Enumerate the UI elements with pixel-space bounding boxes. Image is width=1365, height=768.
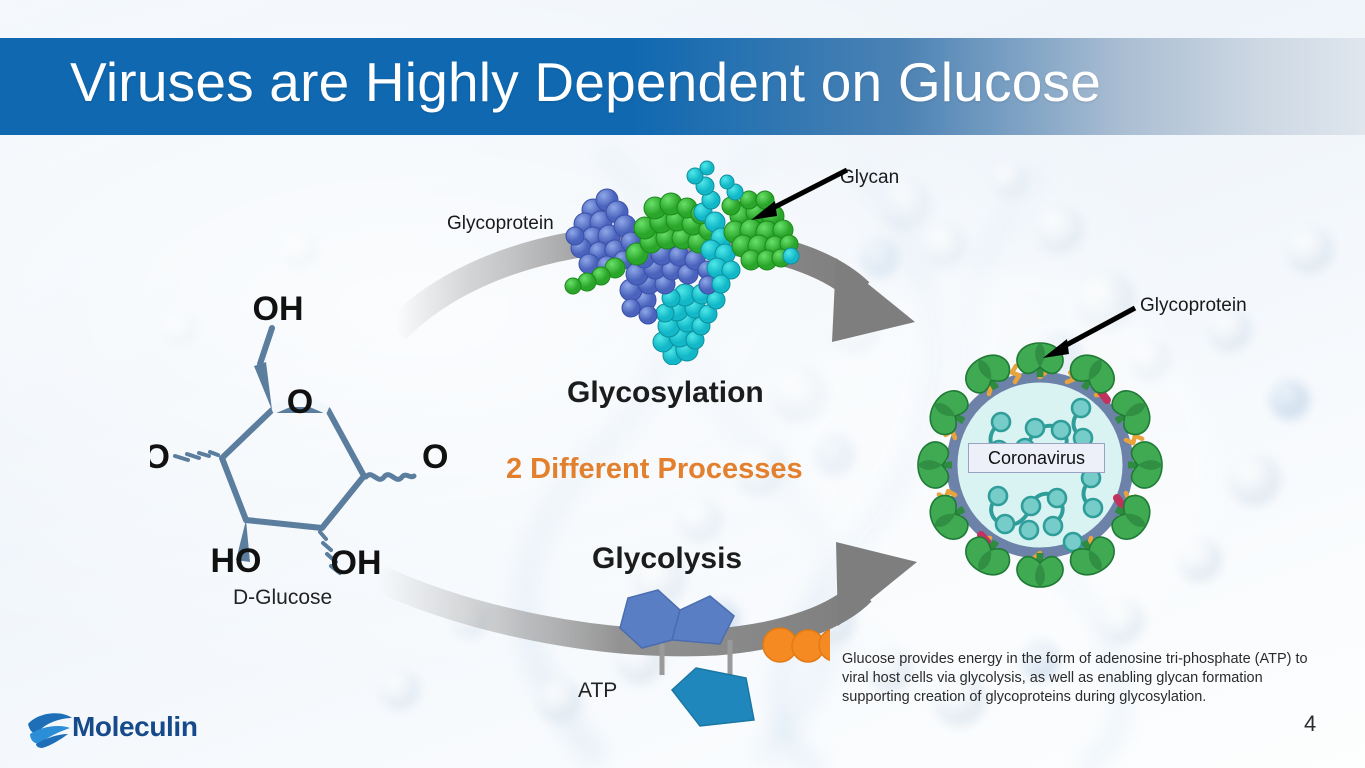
slide-canvas: Viruses are Highly Dependent on Glucose	[0, 0, 1365, 768]
glycoprotein-pointer-arrow	[1025, 300, 1145, 370]
coronavirus-label: Coronavirus	[988, 448, 1085, 469]
glycoprotein-left-label: Glycoprotein	[447, 213, 554, 235]
glycan-pointer-arrow	[735, 160, 855, 230]
coronavirus-label-box: Coronavirus	[968, 443, 1105, 473]
d-glucose-structure: O OH HO HO OH OH	[150, 280, 450, 580]
atp-label: ATP	[578, 679, 617, 703]
atp-molecule	[540, 580, 830, 730]
svg-text:OH: OH	[331, 544, 382, 580]
glycosylation-heading: Glycosylation	[567, 376, 764, 410]
svg-text:OH: OH	[422, 438, 450, 476]
svg-text:HO: HO	[150, 438, 170, 476]
glycoprotein-right-label: Glycoprotein	[1140, 295, 1247, 317]
glycolysis-heading: Glycolysis	[592, 542, 742, 576]
moleculin-swoosh-icon	[28, 713, 72, 748]
page-number: 4	[1304, 711, 1316, 737]
svg-text:HO: HO	[211, 542, 262, 580]
svg-text:O: O	[287, 383, 313, 421]
two-different-processes-heading: 2 Different Processes	[506, 453, 803, 486]
moleculin-wordmark: Moleculin	[72, 711, 198, 743]
explanatory-caption: Glucose provides energy in the form of a…	[842, 650, 1312, 707]
d-glucose-label: D-Glucose	[233, 586, 332, 610]
svg-text:OH: OH	[253, 290, 304, 328]
